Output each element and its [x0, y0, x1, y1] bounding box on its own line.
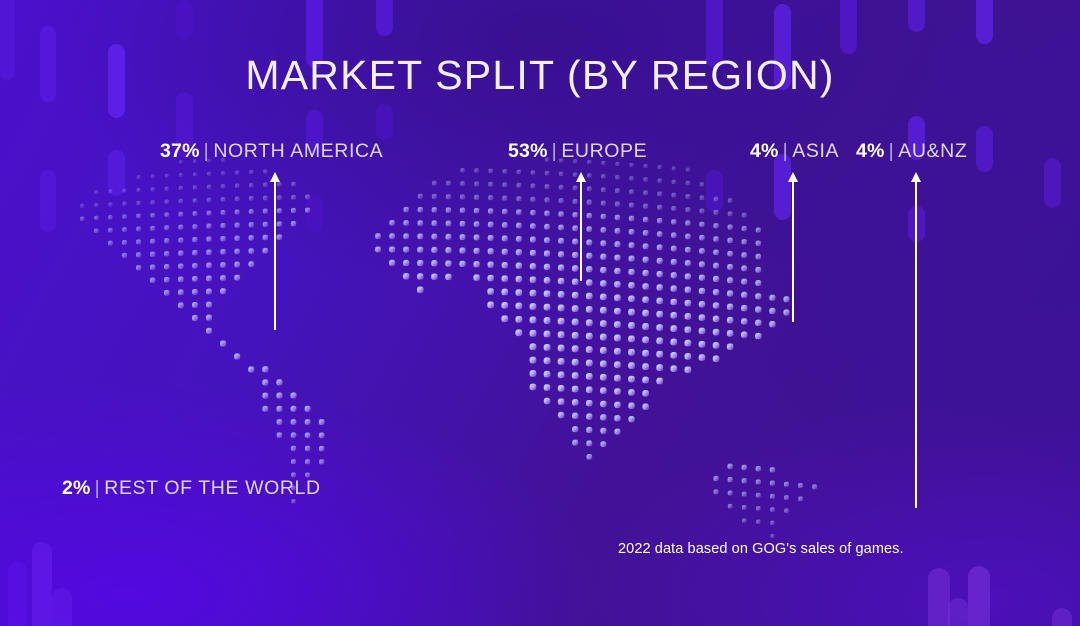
- decor-pill: [840, 0, 857, 54]
- decor-pill: [176, 0, 193, 40]
- pointer-arrow-europe: [575, 172, 587, 281]
- arrow-shaft: [580, 181, 582, 281]
- decor-pill: [948, 598, 968, 626]
- region-name: REST OF THE WORLD: [104, 477, 320, 499]
- region-percent: 37%: [160, 140, 200, 162]
- arrow-shaft: [274, 181, 276, 330]
- region-name: NORTH AMERICA: [213, 140, 383, 162]
- decor-pill: [1052, 608, 1072, 626]
- region-separator: |: [91, 477, 105, 499]
- region-label-north-america: 37%|NORTH AMERICA: [160, 142, 383, 162]
- region-label-europe: 53%|EUROPE: [508, 142, 647, 162]
- page-title: MARKET SPLIT (BY REGION): [0, 52, 1080, 99]
- region-separator: |: [885, 140, 899, 162]
- decor-pill: [32, 542, 52, 626]
- footnote-text: 2022 data based on GOG's sales of games.: [618, 541, 904, 557]
- decor-pill: [928, 568, 950, 626]
- region-separator: |: [548, 140, 562, 162]
- decor-pill: [108, 150, 125, 196]
- region-separator: |: [779, 140, 793, 162]
- region-label-asia: 4%|ASIA: [750, 142, 839, 162]
- decor-pill: [968, 566, 990, 626]
- decor-pill: [306, 196, 323, 232]
- region-name: EUROPE: [561, 140, 647, 162]
- decor-pill: [8, 562, 27, 626]
- decor-pill: [52, 588, 72, 626]
- decor-pill: [706, 170, 723, 212]
- region-percent: 53%: [508, 140, 548, 162]
- decor-pill: [908, 0, 925, 32]
- decor-pill: [376, 0, 393, 36]
- decor-pill: [376, 104, 393, 140]
- decor-pill: [40, 170, 56, 232]
- region-percent: 4%: [750, 140, 779, 162]
- region-percent: 2%: [62, 477, 91, 499]
- pointer-arrow-au-nz: [910, 172, 922, 508]
- region-label-au-nz: 4%|AU&NZ: [856, 142, 967, 162]
- pointer-arrow-north-america: [269, 172, 281, 330]
- region-name: ASIA: [792, 140, 839, 162]
- decor-pill: [976, 0, 993, 44]
- region-separator: |: [200, 140, 214, 162]
- region-label-rest-of-the-world: 2%|REST OF THE WORLD: [62, 479, 321, 499]
- region-name: AU&NZ: [898, 140, 967, 162]
- arrow-shaft: [792, 181, 794, 322]
- arrow-shaft: [915, 181, 917, 508]
- decor-pill: [976, 126, 993, 172]
- infographic-canvas: MARKET SPLIT (BY REGION) 37%|NORTH AMERI…: [0, 0, 1080, 626]
- decor-pill: [1044, 158, 1061, 208]
- pointer-arrow-asia: [787, 172, 799, 322]
- region-percent: 4%: [856, 140, 885, 162]
